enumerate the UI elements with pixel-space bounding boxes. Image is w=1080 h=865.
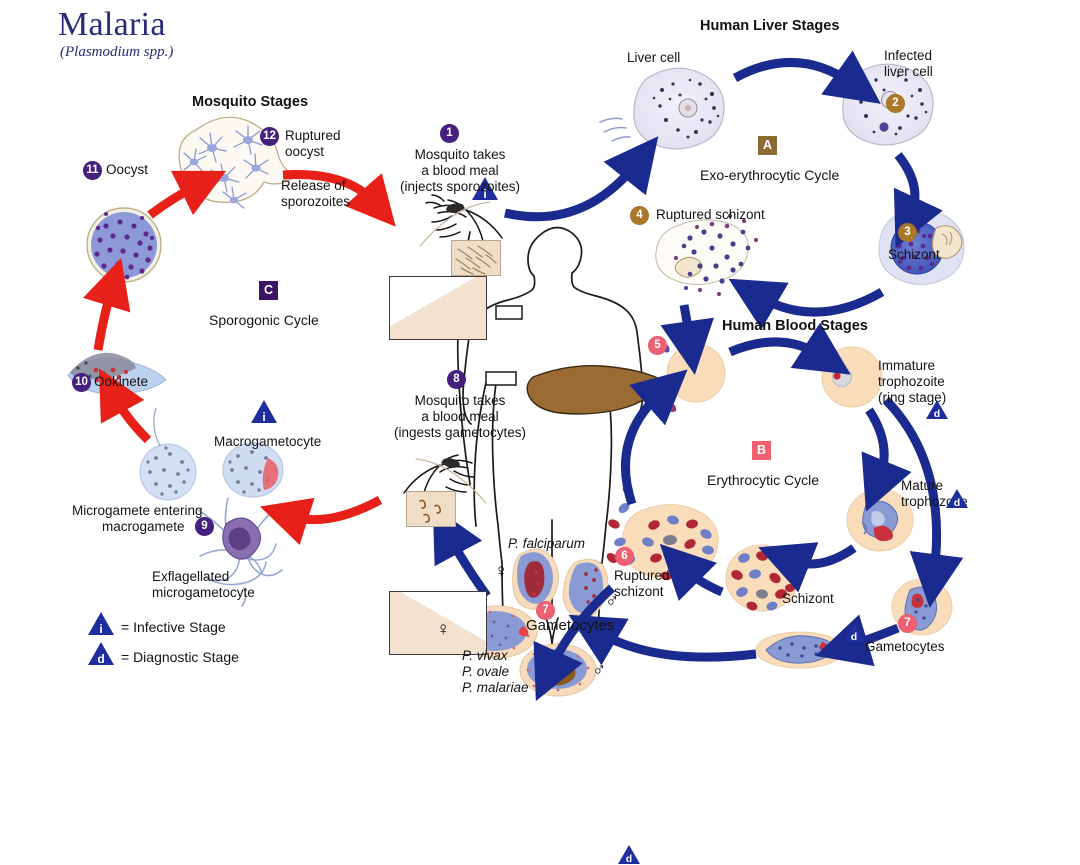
oocyst-graphic: [87, 208, 161, 282]
heading-mosquito-stages: Mosquito Stages: [192, 94, 308, 110]
triangle-glyph: i: [251, 411, 277, 423]
diagnostic-marker-blood-schizont: d: [843, 623, 865, 642]
step-badge-9: 9: [195, 517, 214, 536]
ruptured-oocyst-graphic: [179, 117, 296, 208]
erythrocyte-graphic: [662, 344, 725, 412]
label-ruptured-liver-schizont: Ruptured schizont: [656, 207, 765, 223]
label-ruptured-oocyst-line2: oocyst: [285, 144, 324, 160]
diagram-title: Malaria: [58, 6, 166, 44]
label-bite-bottom-line1: Mosquito takes: [380, 393, 540, 409]
triangle-glyph: d: [88, 653, 114, 665]
arrow-zygote-to-ookinete: [114, 396, 148, 440]
arrow-ruptured-to-erythrocyte: [684, 305, 690, 341]
sporozoite-inset-icon: [452, 241, 500, 275]
step-badge-5: 5: [648, 336, 667, 355]
label-ookinete: Ookinete: [94, 374, 148, 390]
arrow-infected-to-schizont: [898, 155, 915, 217]
arrow-livercell-to-infected: [735, 62, 853, 84]
arrow-immature-to-mature: [869, 410, 884, 480]
female-symbol-falciparum: ♀: [494, 562, 508, 581]
immature-trophozoite-graphic: [822, 347, 882, 407]
cycle-label-sporogonic: Sporogonic Cycle: [209, 312, 319, 328]
female-symbol-vivax: ♀: [436, 620, 450, 639]
label-bite-top-line1: Mosquito takes: [380, 147, 540, 163]
legend-row-infective: i = Infective Stage: [88, 612, 239, 635]
merozoite-dots: [674, 214, 758, 296]
label-bite-top-line2: a blood meal: [380, 163, 540, 179]
arrow-ruptured-to-erythrocyte-recycle: [625, 392, 662, 504]
label-bite-bottom-line3: (ingests gametocytes): [372, 425, 548, 441]
diagnostic-marker-mature-trophozoite: d: [946, 489, 968, 508]
liver-cell-graphic: [600, 68, 724, 149]
legend: i = Infective Stage d = Diagnostic Stage: [88, 612, 239, 672]
label-gametocytes-center: Gametocytes: [526, 618, 614, 634]
arrow-schizont-to-ruptured: [758, 292, 882, 312]
arrow-gametocytes-to-bite-panel: [449, 536, 487, 596]
label-release-sporozoites-line2: sporozoites: [281, 194, 350, 210]
label-microgamete-line1: Microgamete entering: [72, 503, 203, 519]
heading-human-liver-stages: Human Liver Stages: [700, 18, 839, 34]
diagnostic-marker-gametocytes: d: [618, 845, 640, 864]
infective-marker-sporozoite-release: i: [251, 400, 277, 423]
step-badge-2: 2: [886, 94, 905, 113]
pf-male-gametocyte-graphic: [563, 560, 608, 619]
label-macrogametocyte: Macrogametocyte: [214, 434, 321, 450]
diagnostic-marker-ring-stage: d: [926, 400, 948, 419]
triangle-glyph: d: [843, 632, 865, 643]
label-infected-liver-cell-line1: Infected: [884, 48, 932, 64]
label-blood-ruptured-schizont-line1: Ruptured: [614, 568, 670, 584]
red-arrows: [98, 175, 380, 520]
arrow-bloodschizont-to-ruptured: [684, 568, 722, 592]
mosquito-bite-inset-bottom: [406, 491, 456, 527]
label-mature-trophozoite-line1: Mature: [901, 478, 943, 494]
cycle-badge-b: B: [752, 441, 771, 460]
legend-text-infective: = Infective Stage: [121, 619, 226, 635]
label-exflagellated-line2: microgametocyte: [152, 585, 255, 601]
triangle-glyph: d: [946, 498, 968, 509]
label-oocyst: Oocyst: [106, 162, 148, 178]
step-badge-12: 12: [260, 127, 279, 146]
label-infected-liver-cell-line2: liver cell: [884, 64, 933, 80]
label-blood-gametocytes: Gametocytes: [865, 639, 945, 655]
macrogametocyte-graphic: [223, 443, 283, 497]
triangle-glyph: i: [472, 188, 498, 200]
cycle-label-erythrocytic: Erythrocytic Cycle: [707, 472, 819, 488]
arrow-mature-to-bloodschizont: [790, 548, 854, 564]
arrow-banana-to-bite: [598, 632, 756, 657]
label-liver-cell: Liver cell: [627, 50, 680, 66]
label-bite-bottom-line2: a blood meal: [380, 409, 540, 425]
triangle-glyph: d: [926, 409, 948, 420]
step-badge-4: 4: [630, 206, 649, 225]
diagram-subtitle: (Plasmodium spp.): [60, 44, 173, 61]
arrow-oocyst-to-ruptured: [150, 185, 198, 215]
label-bite-top-line3: (injects sporozoites): [376, 179, 544, 195]
label-exflagellated-line1: Exflagellated: [152, 569, 229, 585]
pv-male-gametocyte-graphic: [520, 644, 596, 696]
label-immature-trophozoite-line1: Immature: [878, 358, 935, 374]
label-immature-trophozoite-line2: trophozoite: [878, 374, 945, 390]
arrow-ookinete-to-oocyst: [98, 288, 112, 350]
label-microgamete-line2: macrogamete: [102, 519, 185, 535]
step-badge-7-blood: 7: [898, 614, 917, 633]
label-p-malariae: P. malariae: [462, 680, 529, 696]
label-release-sporozoites-line1: Release of: [281, 178, 346, 194]
legend-text-diagnostic: = Diagnostic Stage: [121, 649, 239, 665]
label-p-falciparum: P. falciparum: [508, 536, 585, 552]
diagnostic-marker-legend: d: [88, 642, 114, 665]
blood-bottom-gametocyte-graphic: [756, 632, 844, 668]
infective-marker-legend: i: [88, 612, 114, 635]
label-liver-schizont: Schizont: [888, 247, 940, 263]
arrow-bite-to-gametes: [290, 500, 380, 520]
label-blood-ruptured-schizont-line2: schizont: [614, 584, 664, 600]
step-badge-10: 10: [72, 373, 91, 392]
mosquito-bite-inset-top: [451, 240, 501, 276]
label-p-vivax: P. vivax: [462, 648, 508, 664]
cycle-badge-c: C: [259, 281, 278, 300]
step-badge-8: 8: [447, 370, 466, 389]
step-badge-11: 11: [83, 161, 102, 180]
body-connector-boxes: [486, 306, 522, 385]
legend-row-diagnostic: d = Diagnostic Stage: [88, 642, 239, 665]
step-badge-3: 3: [898, 223, 917, 242]
label-ruptured-oocyst-line1: Ruptured: [285, 128, 341, 144]
gametocyte-inset-icon: [407, 492, 455, 526]
ruptured-liver-schizont-graphic: [656, 214, 758, 296]
malaria-life-cycle-diagram: Malaria (Plasmodium spp.) Mosquito Stage…: [0, 0, 1080, 810]
pf-female-gametocyte-graphic: [513, 549, 559, 609]
heading-human-blood-stages: Human Blood Stages: [722, 318, 868, 334]
male-symbol-vivax: ♂: [592, 661, 606, 680]
cycle-badge-a: A: [758, 136, 777, 155]
male-symbol-falciparum: ♂: [605, 592, 619, 611]
triangle-glyph: d: [618, 854, 640, 865]
mosquito-bite-panel-top: [389, 276, 487, 340]
triangle-glyph: i: [88, 623, 114, 635]
label-p-ovale: P. ovale: [462, 664, 509, 680]
arrow-erythrocyte-to-immature: [730, 342, 822, 356]
microgamete-entering-macrogamete-graphic: [140, 408, 196, 500]
step-badge-6: 6: [615, 547, 634, 566]
mosquito-drawing-top: [420, 195, 502, 246]
cycle-label-exo-erythrocytic: Exo-erythrocytic Cycle: [700, 167, 839, 183]
step-badge-1: 1: [440, 124, 459, 143]
liver-organ: [527, 366, 660, 414]
label-blood-schizont: Schizont: [782, 591, 834, 607]
